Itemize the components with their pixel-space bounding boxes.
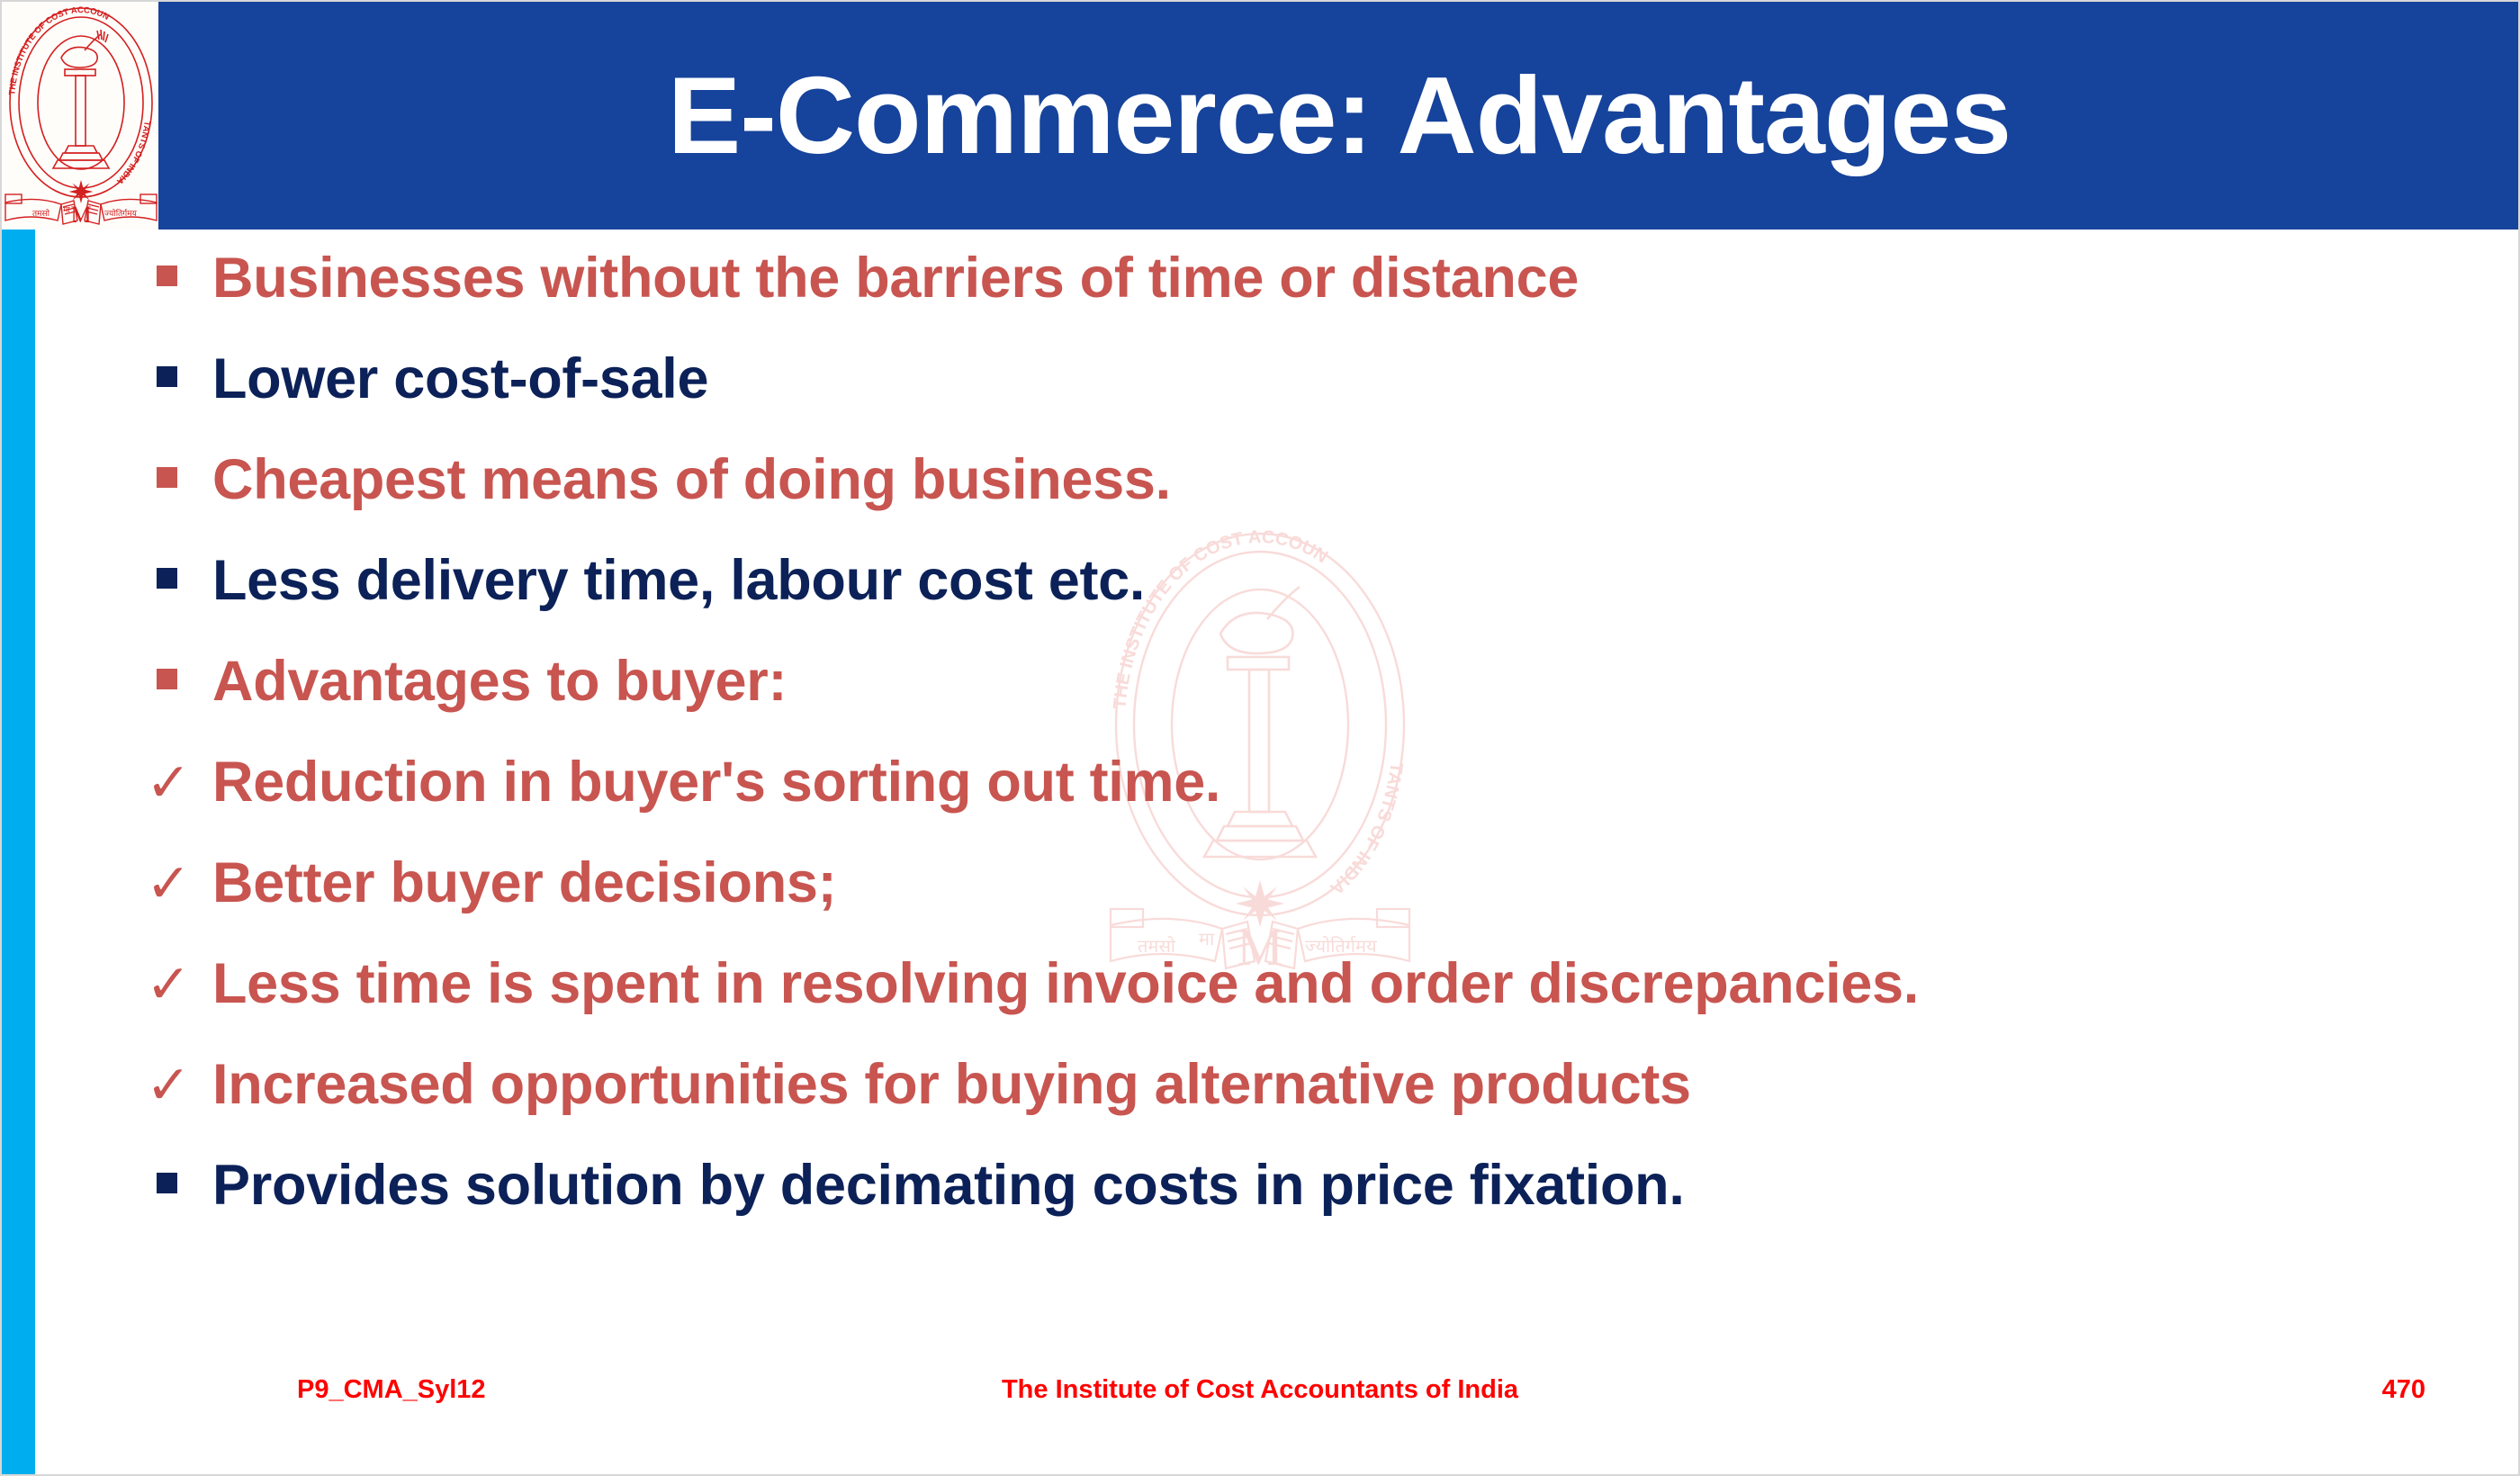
list-item-label: Advantages to buyer: bbox=[212, 653, 787, 710]
list-item[interactable]: ✓ Increased opportunities for buying alt… bbox=[135, 1057, 2475, 1157]
footer-institute-name: The Institute of Cost Accountants of Ind… bbox=[0, 1375, 2520, 1405]
list-item-label: Reduction in buyer's sorting out time. bbox=[212, 754, 1220, 811]
institute-logo-svg: THE INSTITUTE OF COST ACCOUN TANTS OF IN… bbox=[4, 2, 158, 229]
svg-text:मा: मा bbox=[63, 205, 70, 214]
list-item-label: Less time is spent in resolving invoice … bbox=[212, 956, 1919, 1012]
list-item[interactable]: Lower cost-of-sale bbox=[135, 351, 2475, 452]
list-item[interactable]: ✓ Reduction in buyer's sorting out time. bbox=[135, 754, 2475, 855]
check-icon: ✓ bbox=[135, 1058, 212, 1112]
slide-canvas: E-Commerce: Advantages THE INSTITUTE OF … bbox=[0, 0, 2520, 1476]
list-item-label: Businesses without the barriers of time … bbox=[212, 250, 1579, 307]
svg-text:M: M bbox=[70, 202, 91, 228]
list-item[interactable]: Provides solution by decimating costs in… bbox=[135, 1157, 2475, 1258]
list-item[interactable]: Less delivery time, labour cost etc. bbox=[135, 553, 2475, 653]
check-icon: ✓ bbox=[135, 958, 212, 1012]
svg-text:तमसो: तमसो bbox=[32, 208, 50, 218]
list-item[interactable]: Cheapest means of doing business. bbox=[135, 452, 2475, 553]
bullet-square-icon bbox=[135, 679, 212, 700]
footer-page-number: 470 bbox=[2382, 1375, 2425, 1405]
list-item-label: Lower cost-of-sale bbox=[212, 351, 708, 408]
list-item[interactable]: Businesses without the barriers of time … bbox=[135, 250, 2475, 351]
list-item-label: Better buyer decisions; bbox=[212, 855, 836, 912]
list-item-label: Cheapest means of doing business. bbox=[212, 452, 1171, 508]
bullet-square-icon bbox=[135, 276, 212, 297]
list-item[interactable]: Advantages to buyer: bbox=[135, 653, 2475, 754]
check-icon: ✓ bbox=[135, 756, 212, 810]
list-item-label: Less delivery time, labour cost etc. bbox=[212, 553, 1145, 609]
slide-footer: P9_CMA_Syl12 The Institute of Cost Accou… bbox=[0, 1375, 2520, 1429]
list-item-label: Increased opportunities for buying alter… bbox=[212, 1057, 1691, 1113]
cyan-accent-strip bbox=[2, 229, 35, 1474]
bullet-square-icon bbox=[135, 1183, 212, 1204]
bullet-square-icon bbox=[135, 579, 212, 599]
institute-logo: THE INSTITUTE OF COST ACCOUN TANTS OF IN… bbox=[4, 2, 158, 229]
bullet-square-icon bbox=[135, 478, 212, 499]
list-item[interactable]: ✓ Less time is spent in resolving invoic… bbox=[135, 956, 2475, 1057]
list-item-label: Provides solution by decimating costs in… bbox=[212, 1157, 1685, 1214]
svg-text:ज्योतिर्गमय: ज्योतिर्गमय bbox=[104, 208, 138, 218]
list-item[interactable]: ✓ Better buyer decisions; bbox=[135, 855, 2475, 956]
check-icon: ✓ bbox=[135, 857, 212, 911]
bullet-square-icon bbox=[135, 377, 212, 398]
content-bullet-list: Businesses without the barriers of time … bbox=[135, 250, 2475, 1258]
page-title: E-Commerce: Advantages bbox=[158, 0, 2520, 229]
